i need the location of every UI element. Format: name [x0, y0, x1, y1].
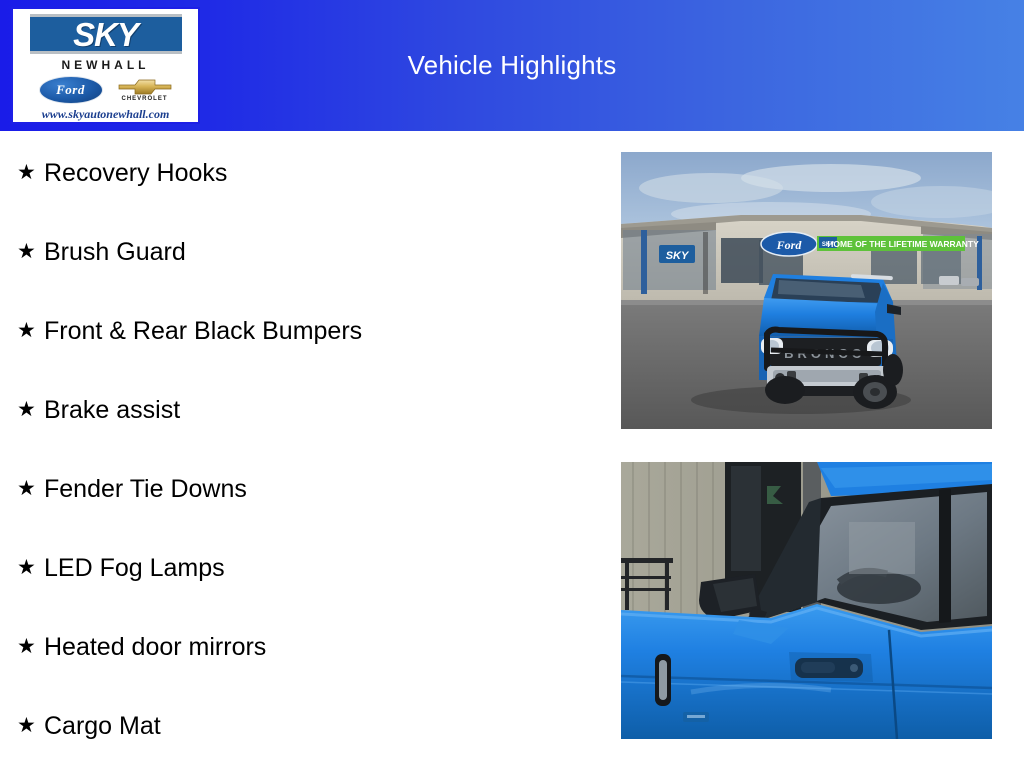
- star-icon: ★: [12, 553, 44, 583]
- dealer-logo-inner: SKY NEWHALL Ford: [13, 9, 198, 122]
- ford-logo-icon: Ford: [39, 76, 103, 104]
- list-item: ★ Heated door mirrors: [12, 624, 592, 703]
- dealer-website-url: www.skyautonewhall.com: [42, 107, 170, 122]
- chevrolet-label: CHEVROLET: [121, 96, 167, 102]
- feature-label: Recovery Hooks: [44, 158, 227, 188]
- chevrolet-bowtie-icon: [117, 78, 173, 95]
- list-item: ★ LED Fog Lamps: [12, 545, 592, 624]
- feature-label: Brush Guard: [44, 237, 186, 267]
- star-icon: ★: [12, 158, 44, 188]
- star-icon: ★: [12, 632, 44, 662]
- svg-text:HOME OF THE LIFETIME WARRANTY: HOME OF THE LIFETIME WARRANTY: [827, 239, 979, 249]
- list-item: ★ Front & Rear Black Bumpers: [12, 308, 592, 387]
- feature-label: Heated door mirrors: [44, 632, 266, 662]
- star-icon: ★: [12, 711, 44, 741]
- svg-text:Ford: Ford: [776, 238, 803, 252]
- list-item: ★ Cargo Mat: [12, 703, 592, 782]
- star-icon: ★: [12, 237, 44, 267]
- star-icon: ★: [12, 474, 44, 504]
- feature-label: Fender Tie Downs: [44, 474, 247, 504]
- feature-label: Front & Rear Black Bumpers: [44, 316, 362, 346]
- photo-door-mirror[interactable]: [621, 462, 992, 739]
- ford-label: Ford: [56, 82, 85, 98]
- franchise-brand-row: Ford CHEVROLET: [13, 76, 198, 104]
- feature-label: Brake assist: [44, 395, 180, 425]
- newhall-wordmark: NEWHALL: [62, 58, 150, 72]
- list-item: ★ Brake assist: [12, 387, 592, 466]
- dealer-logo[interactable]: SKY NEWHALL Ford: [11, 7, 200, 124]
- photo-exterior-front[interactable]: SKY Ford SKY HOME OF THE LIFETIME WARRAN…: [621, 152, 992, 429]
- star-icon: ★: [12, 395, 44, 425]
- list-item: ★ Brush Guard: [12, 229, 592, 308]
- feature-label: Cargo Mat: [44, 711, 161, 741]
- feature-label: LED Fog Lamps: [44, 553, 225, 583]
- vehicle-feature-list: ★ Recovery Hooks ★ Brush Guard ★ Front &…: [12, 150, 592, 782]
- list-item: ★ Fender Tie Downs: [12, 466, 592, 545]
- sky-wordmark: SKY: [73, 18, 138, 51]
- star-icon: ★: [12, 316, 44, 346]
- svg-text:SKY: SKY: [666, 250, 690, 262]
- list-item: ★ Recovery Hooks: [12, 150, 592, 229]
- chevrolet-logo-icon: CHEVROLET: [117, 78, 173, 102]
- sky-banner: SKY: [30, 14, 182, 54]
